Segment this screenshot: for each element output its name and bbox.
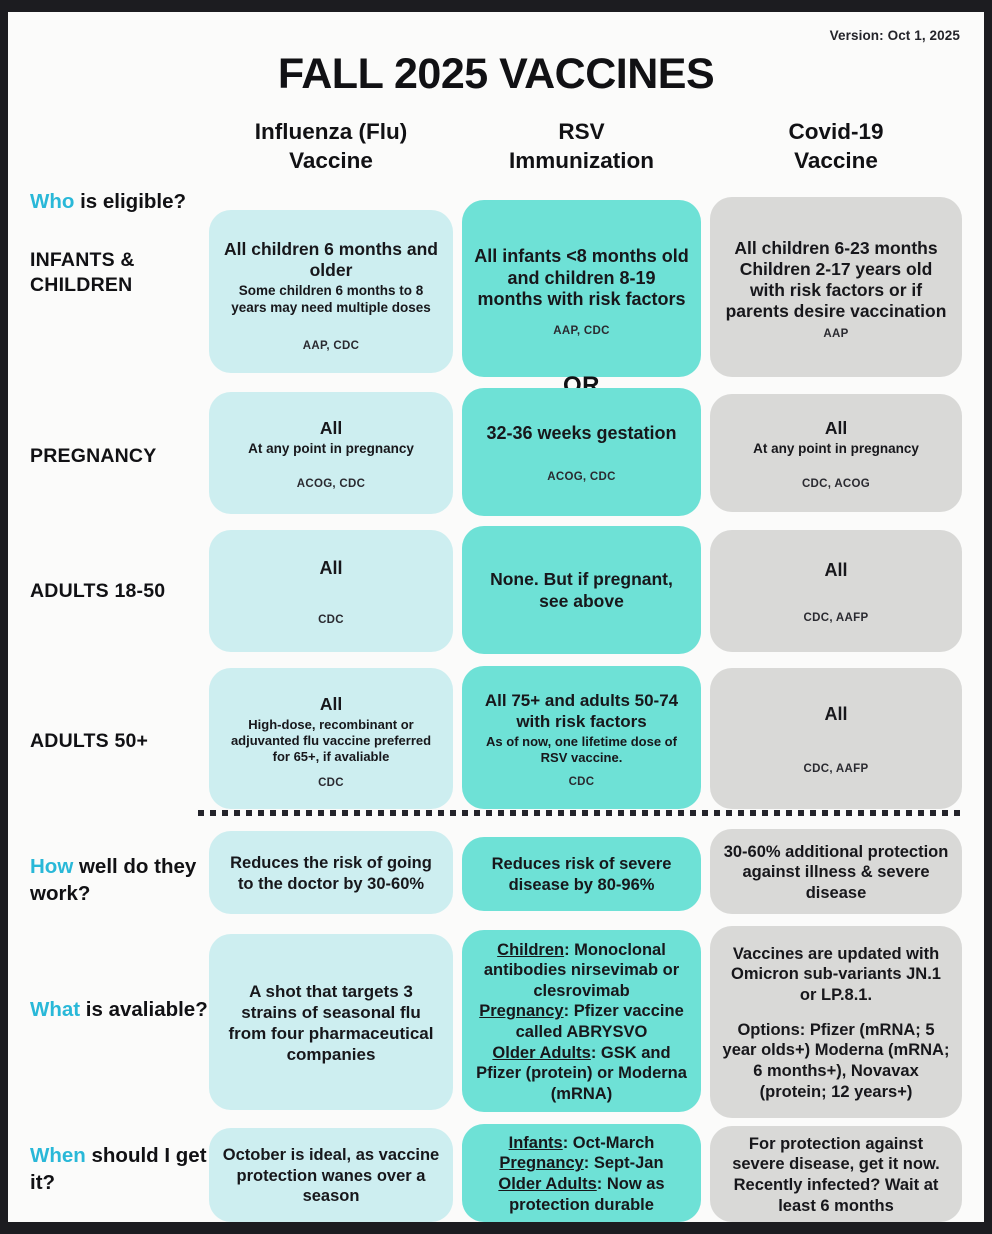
cell-body-options: Options: Pfizer (mRNA; 5 year olds+) Mod… [722, 1020, 950, 1103]
cell-pregnancy-rsv: 32-36 weeks gestation ACOG, CDC [462, 388, 701, 516]
column-header-influenza-line2: Vaccine [209, 147, 453, 176]
cell-adults50plus-covid: All CDC, AAFP [710, 668, 962, 809]
cell-source: CDC, ACOG [802, 478, 870, 490]
cell-infants-rsv: All infants <8 months old and children 8… [462, 200, 701, 377]
row-label-accent: How [30, 855, 73, 878]
cell-headline: All 75+ and adults 50-74 with risk facto… [474, 691, 689, 732]
cell-howwell-covid: 30-60% additional protection against ill… [710, 829, 962, 914]
column-header-covid-line2: Vaccine [710, 147, 962, 176]
column-header-covid-line1: Covid-19 [710, 118, 962, 147]
page-title: FALL 2025 VACCINES [8, 50, 984, 99]
cell-subtext: As of now, one lifetime dose of RSV vacc… [474, 734, 689, 766]
cell-source: CDC, AAFP [804, 612, 869, 624]
cell-adults50plus-rsv: All 75+ and adults 50-74 with risk facto… [462, 666, 701, 809]
section-question-rest: is eligible? [74, 190, 186, 213]
row-label-accent: When [30, 1144, 86, 1167]
cell-infants-influenza: All children 6 months and older Some chi… [209, 210, 453, 373]
cell-available-covid: Vaccines are updated with Omicron sub-va… [710, 926, 962, 1118]
column-header-rsv-line1: RSV [462, 118, 701, 147]
row-label-adults-50-plus: ADULTS 50+ [30, 729, 212, 754]
column-header-rsv-line2: Immunization [462, 147, 701, 176]
cell-headline: All [824, 560, 847, 582]
cell-infants-covid: All children 6-23 months Children 2-17 y… [710, 197, 962, 377]
cell-when-covid: For protection against severe disease, g… [710, 1126, 962, 1222]
cell-adults1850-covid: All CDC, AAFP [710, 530, 962, 652]
cell-subtext: At any point in pregnancy [248, 441, 414, 457]
cell-when-rsv: Infants: Oct-MarchPregnancy: Sept-JanOld… [462, 1124, 701, 1222]
row-label-rest: is avaliable? [80, 998, 208, 1021]
cell-body: 30-60% additional protection against ill… [722, 842, 950, 904]
cell-available-rsv: Children: Monoclonal antibodies nirsevim… [462, 930, 701, 1112]
cell-source: AAP [823, 328, 848, 340]
cell-source: CDC [318, 777, 344, 789]
column-header-influenza: Influenza (Flu) Vaccine [209, 118, 453, 176]
row-label-what-available: What is avaliable? [30, 997, 212, 1024]
cell-headline: All [825, 418, 847, 439]
row-label-infants-line2: CHILDREN [30, 273, 212, 298]
cell-headline: All children 6 months and older [221, 239, 441, 281]
row-label-pregnancy: PREGNANCY [30, 444, 212, 469]
cell-body: A shot that targets 3 strains of seasona… [221, 981, 441, 1066]
cell-headline: All [319, 558, 342, 580]
cell-adults50plus-influenza: All High-dose, recombinant or adjuvanted… [209, 668, 453, 809]
row-label-how-well-work: How well do they work? [30, 854, 212, 907]
cell-subtext: High-dose, recombinant or adjuvanted flu… [221, 717, 441, 765]
cell-source: AAP, CDC [553, 325, 610, 337]
cell-when-influenza: October is ideal, as vaccine protection … [209, 1128, 453, 1222]
column-header-rsv: RSV Immunization [462, 118, 701, 176]
cell-source: AAP, CDC [303, 340, 360, 352]
cell-subtext: Some children 6 months to 8 years may ne… [221, 283, 441, 316]
cell-adults1850-rsv: None. But if pregnant, see above [462, 526, 701, 654]
cell-body: Infants: Oct-MarchPregnancy: Sept-JanOld… [474, 1133, 689, 1216]
cell-adults1850-influenza: All CDC [209, 530, 453, 652]
column-header-covid: Covid-19 Vaccine [710, 118, 962, 176]
cell-source: CDC, AAFP [804, 763, 869, 775]
cell-headline: All [320, 694, 342, 715]
row-label-when-get-it: When should I get it? [30, 1143, 212, 1196]
cell-body: For protection against severe disease, g… [722, 1134, 950, 1217]
column-header-influenza-line1: Influenza (Flu) [209, 118, 453, 147]
cell-source: ACOG, CDC [547, 471, 616, 483]
cell-body: Reduces the risk of going to the doctor … [221, 853, 441, 894]
cell-pregnancy-influenza: All At any point in pregnancy ACOG, CDC [209, 392, 453, 514]
cell-body: October is ideal, as vaccine protection … [221, 1145, 441, 1207]
version-stamp: Version: Oct 1, 2025 [830, 28, 960, 43]
cell-headline: All infants <8 months old and children 8… [474, 246, 689, 311]
cell-headline: All [320, 418, 342, 439]
cell-source: CDC [318, 614, 344, 626]
infographic-poster: Version: Oct 1, 2025 FALL 2025 VACCINES … [8, 12, 984, 1222]
row-label-adults-18-50: ADULTS 18-50 [30, 579, 212, 604]
section-question-accent: Who [30, 190, 74, 213]
section-divider [198, 810, 966, 816]
cell-pregnancy-covid: All At any point in pregnancy CDC, ACOG [710, 394, 962, 512]
cell-source: CDC [569, 776, 595, 788]
cell-headline: 32-36 weeks gestation [486, 423, 676, 445]
cell-body-variants: Vaccines are updated with Omicron sub-va… [722, 944, 950, 1006]
row-label-accent: What [30, 998, 80, 1021]
cell-body: None. But if pregnant, see above [474, 569, 689, 613]
row-label-infants-children: INFANTS & CHILDREN [30, 248, 212, 299]
cell-body: Children: Monoclonal antibodies nirsevim… [474, 940, 689, 1105]
section-question-who-eligible: Who is eligible? [30, 190, 186, 214]
cell-howwell-influenza: Reduces the risk of going to the doctor … [209, 831, 453, 914]
cell-howwell-rsv: Reduces risk of severe disease by 80-96% [462, 837, 701, 911]
row-label-infants-line1: INFANTS & [30, 248, 212, 273]
cell-headline: All [824, 704, 847, 726]
cell-available-influenza: A shot that targets 3 strains of seasona… [209, 934, 453, 1110]
cell-body: Reduces risk of severe disease by 80-96% [474, 854, 689, 895]
cell-headline: All children 6-23 months Children 2-17 y… [722, 238, 950, 322]
cell-source: ACOG, CDC [297, 478, 366, 490]
cell-subtext: At any point in pregnancy [753, 441, 919, 457]
